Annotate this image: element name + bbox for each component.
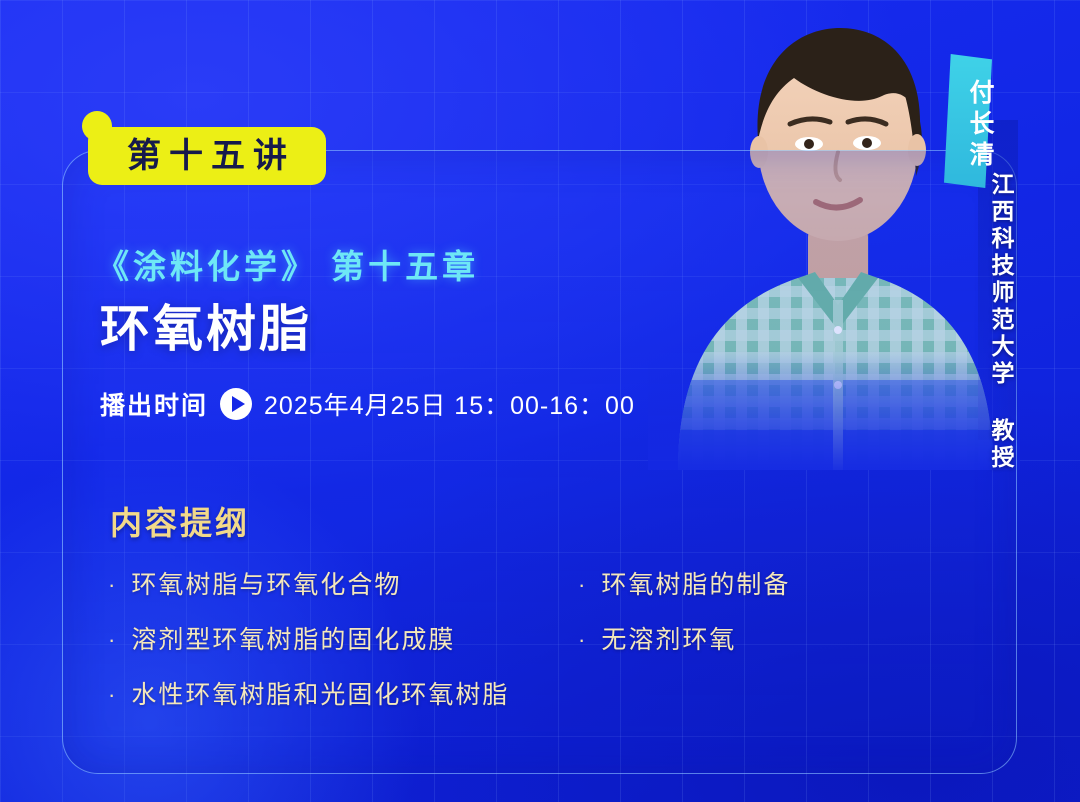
list-item: · 环氧树脂与环氧化合物 xyxy=(108,570,578,625)
list-item: · 水性环氧树脂和光固化环氧树脂 xyxy=(108,680,578,735)
bullet-icon: · xyxy=(578,625,585,655)
lecture-number-badge: 第十五讲 xyxy=(88,127,326,185)
broadcast-time-label: 播出时间 xyxy=(100,386,208,422)
lecture-number-label: 第十五讲 xyxy=(119,139,295,173)
list-item: · 溶剂型环氧树脂的固化成膜 xyxy=(108,625,578,680)
outline-column-right: · 环氧树脂的制备 · 无溶剂环氧 xyxy=(578,570,938,735)
bullet-icon: · xyxy=(108,680,115,710)
list-item-label: 无溶剂环氧 xyxy=(601,625,736,655)
bullet-icon: · xyxy=(108,625,115,655)
lecture-poster: 江西科技师范大学 教授 付长清 第十五讲 《涂料化学》 第十五章 环氧树脂 播出… xyxy=(0,0,1080,802)
list-item: · 无溶剂环氧 xyxy=(578,625,938,680)
outline-heading: 内容提纲 xyxy=(110,498,250,544)
list-item-label: 环氧树脂与环氧化合物 xyxy=(131,570,401,600)
presenter-affiliation: 江西科技师范大学 教授 xyxy=(978,172,1018,472)
list-item: · 环氧树脂的制备 xyxy=(578,570,938,625)
lecture-title: 环氧树脂 xyxy=(100,304,312,354)
play-icon xyxy=(220,388,252,420)
list-item-label: 溶剂型环氧树脂的固化成膜 xyxy=(131,625,455,655)
presenter-name: 付长清 xyxy=(936,70,998,180)
outline-column-left: · 环氧树脂与环氧化合物 · 溶剂型环氧树脂的固化成膜 · 水性环氧树脂和光固化… xyxy=(108,570,578,735)
list-item-label: 环氧树脂的制备 xyxy=(601,570,790,600)
bullet-icon: · xyxy=(108,570,115,600)
list-item-label: 水性环氧树脂和光固化环氧树脂 xyxy=(131,680,509,710)
broadcast-time-value: 2025年4月25日 15：00-16：00 xyxy=(264,386,635,422)
course-subtitle: 《涂料化学》 第十五章 xyxy=(96,240,479,288)
broadcast-time-row: 播出时间 2025年4月25日 15：00-16：00 xyxy=(100,386,635,422)
bullet-icon: · xyxy=(578,570,585,600)
outline-columns: · 环氧树脂与环氧化合物 · 溶剂型环氧树脂的固化成膜 · 水性环氧树脂和光固化… xyxy=(108,570,938,735)
